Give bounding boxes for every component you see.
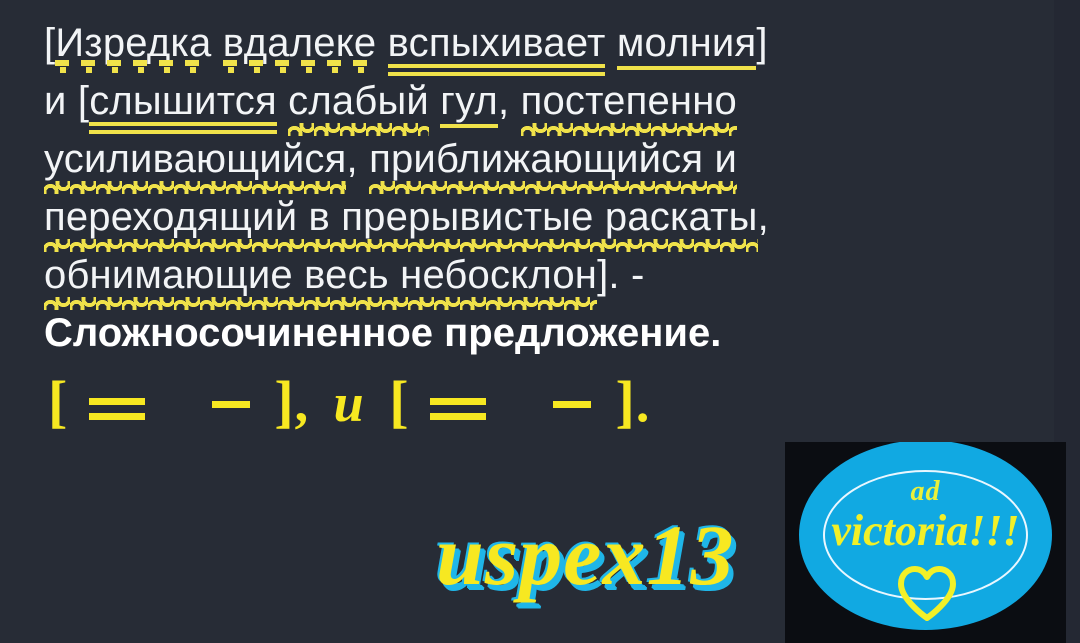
analysis-line-2: и [слышится слабый гул, постепенно xyxy=(44,72,1004,130)
line5-tail: ]. - xyxy=(597,253,644,297)
adverbial-izredka: Изредка xyxy=(55,14,211,72)
conclusion-label: Сложносочиненное предложение. xyxy=(44,304,1004,362)
comma: , xyxy=(346,137,369,181)
attribute-perehodyashchiy: переходящий в прерывистые раскаты xyxy=(44,188,758,246)
scheme-close-bracket-2: ] xyxy=(616,369,636,434)
scheme-subject-symbol-2 xyxy=(553,401,591,408)
close-bracket: ] xyxy=(756,21,767,65)
analysis-line-1: [Изредка вдалеке вспыхивает молния] xyxy=(44,14,1004,72)
predicate-slyshitsya: слышится xyxy=(89,72,277,130)
heart-icon xyxy=(897,566,957,622)
attribute-priblizhayushchiysya: приближающийся и xyxy=(369,130,737,188)
attribute-postepenno: постепенно xyxy=(521,72,737,130)
attribute-usilivayushchiysya: усиливающийся xyxy=(44,130,346,188)
scheme-period: . xyxy=(636,373,651,433)
space xyxy=(376,21,387,65)
attribute-slabyy: слабый xyxy=(288,72,429,130)
space xyxy=(277,79,288,123)
logo-text-ad: ad xyxy=(785,476,1066,508)
open-bracket: [ xyxy=(78,79,89,123)
attribute-obnimayushchie: обнимающие весь небосклон xyxy=(44,246,597,304)
scheme-comma: , xyxy=(295,373,310,433)
scheme-close-bracket-1: ] xyxy=(274,369,294,434)
logo-text-victoria: victoria!!! xyxy=(785,505,1066,556)
analysis-line-3: усиливающийся, приближающийся и xyxy=(44,130,1004,188)
conjunction-i: и xyxy=(44,79,78,123)
analysis-line-4: переходящий в прерывистые раскаты, xyxy=(44,188,1004,246)
analysis-line-5: обнимающие весь небосклон]. - xyxy=(44,246,1004,304)
ad-victoria-logo: ad victoria!!! xyxy=(785,442,1066,643)
uspex13-wordmark: uspex13 xyxy=(436,505,734,605)
scheme-predicate-symbol-2 xyxy=(430,397,486,421)
open-bracket: [ xyxy=(44,21,55,65)
comma: , xyxy=(498,79,521,123)
adverbial-vdaleke: вдалеке xyxy=(223,14,377,72)
space xyxy=(605,21,616,65)
scheme-open-bracket-1: [ xyxy=(48,369,68,434)
sentence-scheme: [ ], и [ ]. xyxy=(48,368,650,435)
scheme-predicate-symbol-1 xyxy=(89,397,145,421)
subject-molniya: молния xyxy=(617,14,757,72)
space xyxy=(429,79,440,123)
scheme-subject-symbol-1 xyxy=(212,401,250,408)
subject-gul: гул xyxy=(440,72,498,130)
scheme-conjunction: и xyxy=(324,373,375,433)
sentence-analysis: [Изредка вдалеке вспыхивает молния] и [с… xyxy=(44,14,1004,362)
predicate-vspyhivaet: вспыхивает xyxy=(388,14,606,72)
space xyxy=(211,21,222,65)
scheme-open-bracket-2: [ xyxy=(389,369,409,434)
comma: , xyxy=(758,195,769,239)
slide-canvas: [Изредка вдалеке вспыхивает молния] и [с… xyxy=(0,0,1080,643)
